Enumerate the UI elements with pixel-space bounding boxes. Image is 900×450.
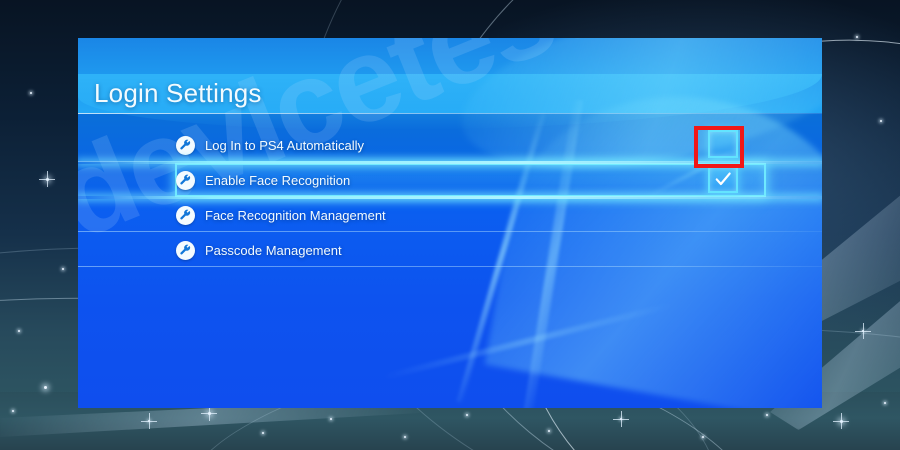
annotation-rectangle (694, 126, 744, 168)
star-sparkle (62, 268, 64, 270)
list-item-label: Face Recognition Management (205, 208, 386, 223)
star-sparkle (884, 402, 886, 404)
enable-face-recognition-checkbox[interactable] (708, 165, 738, 193)
star-sparkle (856, 36, 858, 38)
star-sparkle (840, 420, 843, 423)
star-sparkle (44, 386, 47, 389)
star-sparkle (466, 414, 468, 416)
list-item-face-recognition-management[interactable]: Face Recognition Management (78, 198, 822, 232)
wrench-icon (176, 171, 195, 190)
list-item-label: Log In to PS4 Automatically (205, 138, 364, 153)
star-sparkle (548, 430, 550, 432)
star-sparkle (208, 412, 211, 415)
title-divider (78, 113, 822, 114)
wrench-icon (176, 241, 195, 260)
list-item-label: Enable Face Recognition (205, 173, 350, 188)
star-sparkle (46, 178, 49, 181)
wrench-icon (176, 206, 195, 225)
star-sparkle (862, 330, 864, 332)
star-sparkle (12, 410, 14, 412)
star-sparkle (620, 418, 622, 420)
star-sparkle (880, 120, 882, 122)
list-item-passcode-management[interactable]: Passcode Management (78, 233, 822, 267)
list-item-label: Passcode Management (205, 243, 342, 258)
ps4-settings-screen: devicetests Login Settings Log In to PS4… (78, 38, 822, 408)
checkmark-icon (713, 169, 733, 189)
row-divider (78, 231, 822, 232)
star-sparkle (262, 432, 264, 434)
page-title: Login Settings (94, 78, 262, 109)
star-sparkle (702, 436, 704, 438)
star-sparkle (148, 420, 150, 422)
star-sparkle (330, 418, 332, 420)
star-sparkle (18, 330, 20, 332)
wrench-icon (176, 136, 195, 155)
star-sparkle (30, 92, 32, 94)
star-sparkle (766, 414, 768, 416)
row-divider (78, 266, 822, 267)
star-sparkle (404, 436, 406, 438)
